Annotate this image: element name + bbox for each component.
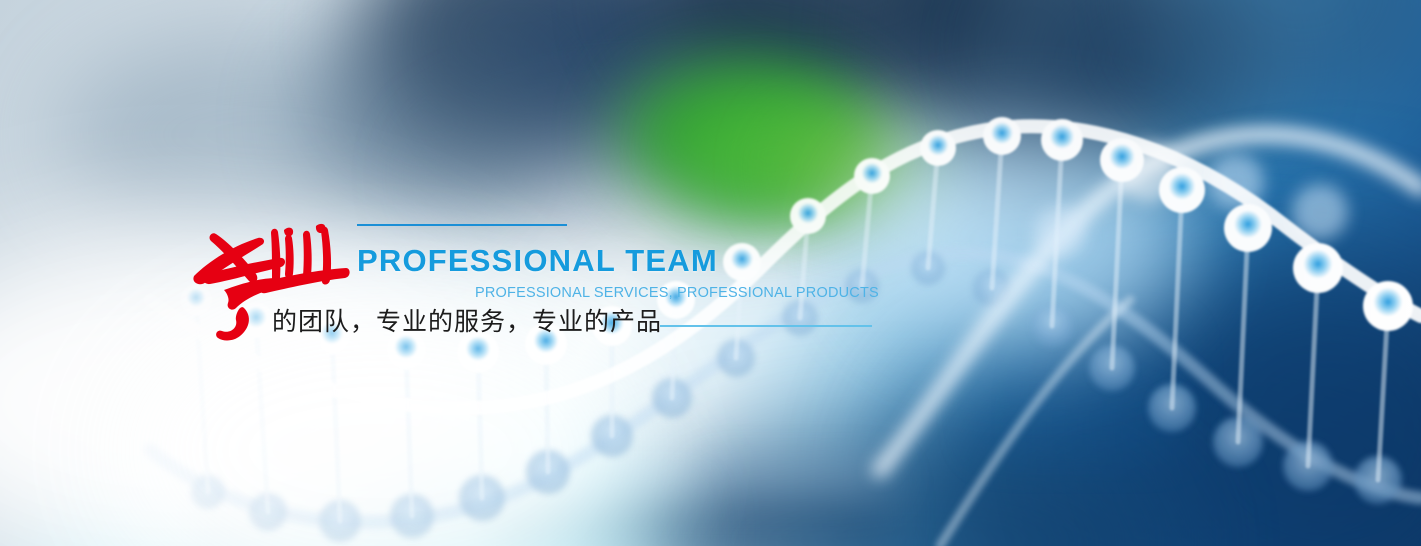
page-title: PROFESSIONAL TEAM: [357, 245, 718, 276]
page-subtitle: PROFESSIONAL SERVICES, PROFESSIONAL PROD…: [475, 286, 879, 301]
banner-text-block: PROFESSIONAL TEAM PROFESSIONAL SERVICES,…: [0, 0, 1421, 546]
chinese-tagline: 的团队，专业的服务，专业的产品: [272, 307, 662, 338]
title-rule-top: [357, 224, 567, 226]
title-rule-bottom: [660, 325, 872, 327]
professional-team-banner: PROFESSIONAL TEAM PROFESSIONAL SERVICES,…: [0, 0, 1421, 546]
